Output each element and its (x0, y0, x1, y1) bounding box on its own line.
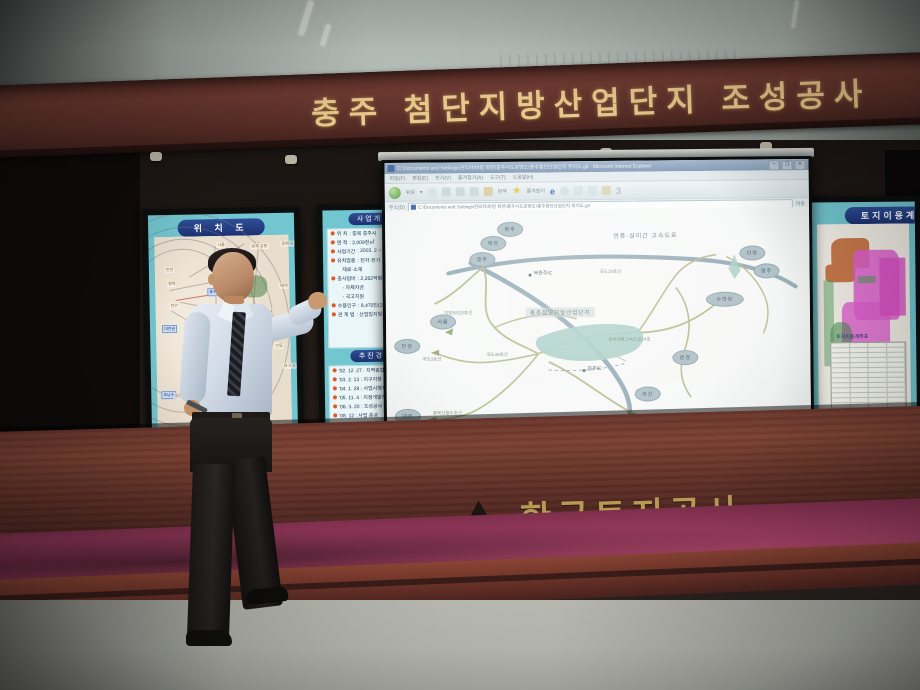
chevron-down-icon[interactable]: ▾ (420, 189, 423, 195)
mail-icon[interactable] (574, 186, 583, 195)
edit-icon[interactable] (483, 187, 492, 196)
site-title-label: 충주첨단지방산업단지 (526, 307, 595, 318)
page-icon (411, 205, 416, 210)
back-arrow-icon[interactable] (389, 186, 401, 198)
highway-label: 연풍-살미간 고속도로 (613, 230, 677, 240)
bullet-icon (331, 240, 335, 244)
summary-key: 수용인구 (338, 302, 357, 309)
menu-item-file[interactable]: 파일(F) (390, 175, 406, 182)
bullet-icon (333, 404, 337, 408)
ie-app-icon (388, 165, 395, 172)
presenter-head (212, 252, 254, 302)
summary-key: 총사업비 (337, 275, 356, 282)
ceiling-spotlight (150, 152, 162, 161)
interchange-label: 충주IC (587, 365, 601, 372)
home-icon[interactable] (469, 187, 478, 196)
summary-value: : 충북 충주시 (349, 230, 376, 237)
land-use-table-caption: 토지이용계획표 (836, 333, 868, 340)
close-icon[interactable]: ✕ (794, 160, 805, 170)
menu-item-help[interactable]: 도움말(H) (513, 174, 534, 181)
bullet-icon (333, 368, 337, 372)
route-label: 중부내륙고속도로24호 (608, 336, 650, 342)
ceiling-spotlight (285, 155, 297, 164)
ceiling-light-slot (791, 0, 799, 28)
presenter (180, 252, 320, 652)
summary-key: 사업기간 (337, 248, 356, 255)
back-button-label[interactable]: 뒤로 (406, 189, 415, 196)
presenter-leg-front (187, 463, 235, 638)
route-label: 지방도525호선 (444, 310, 472, 316)
bullet-icon (331, 231, 335, 235)
ceiling-light-slot (298, 0, 314, 36)
bullet-icon (331, 258, 335, 262)
menu-item-favorites[interactable]: 즐겨찾기(A) (458, 174, 483, 181)
poster-right-title: 토지이용계획도 (845, 206, 918, 224)
interchange-label: 북충주IC (534, 269, 553, 276)
summary-value: - 국고지원 (343, 293, 365, 300)
summary-value: : 전자·전기 (357, 257, 380, 264)
presenter-shoe-front (186, 630, 232, 646)
menu-item-view[interactable]: 보기(V) (435, 174, 451, 181)
bullet-icon (332, 303, 336, 307)
screenshot-root: 충주 첨단지방산업단지 조성공사 위 치 도 (0, 0, 920, 690)
summary-key: 면 적 (337, 239, 348, 246)
refresh-icon[interactable] (455, 187, 464, 196)
summary-key: 유치업종 (337, 257, 356, 264)
bullet-icon (333, 395, 337, 399)
route-label: 국도3호선 (422, 357, 441, 363)
summary-value: : 2,009천㎡ (349, 239, 374, 246)
messenger-icon[interactable]: 3 (616, 185, 621, 195)
bullet-icon (333, 386, 337, 390)
print-icon[interactable] (588, 186, 597, 195)
summary-value: 재료·소재 (342, 266, 362, 273)
summary-key: 위 치 (337, 230, 348, 237)
ceiling-light-slot (320, 24, 331, 47)
history-icon[interactable] (560, 186, 569, 195)
favorites-button-label[interactable]: 즐겨찾기 (527, 188, 545, 195)
bullet-icon (333, 413, 337, 417)
interchange-marker (529, 274, 532, 277)
presenter-ear (208, 274, 215, 285)
menu-item-edit[interactable]: 편집(E) (412, 175, 428, 182)
bullet-icon (331, 276, 335, 280)
maximize-icon[interactable]: ❐ (781, 160, 792, 170)
stop-icon[interactable] (441, 187, 450, 196)
room-floor (0, 600, 920, 690)
forward-arrow-icon[interactable] (427, 188, 436, 197)
search-button-label[interactable]: 검색 (497, 188, 506, 195)
bullet-icon (333, 377, 337, 381)
bullet-icon (331, 249, 335, 253)
menu-item-tools[interactable]: 도구(T) (490, 174, 506, 181)
minimize-icon[interactable]: ─ (768, 160, 779, 170)
interchange-marker (582, 369, 585, 372)
route-label: 국도36호선 (486, 352, 508, 358)
favorites-star-icon[interactable]: ★ (512, 187, 522, 196)
media-icon[interactable]: e (550, 186, 555, 196)
window-controls[interactable]: ─ ❐ ✕ (768, 160, 805, 170)
bullet-icon (332, 312, 336, 316)
summary-key: 관 계 법 (338, 311, 355, 318)
edit-page-icon[interactable] (602, 186, 611, 195)
summary-value: - 자체자금 (342, 284, 364, 291)
route-label: 국도19호선 (600, 269, 622, 275)
summary-value: : 2,262억원 (358, 275, 383, 282)
